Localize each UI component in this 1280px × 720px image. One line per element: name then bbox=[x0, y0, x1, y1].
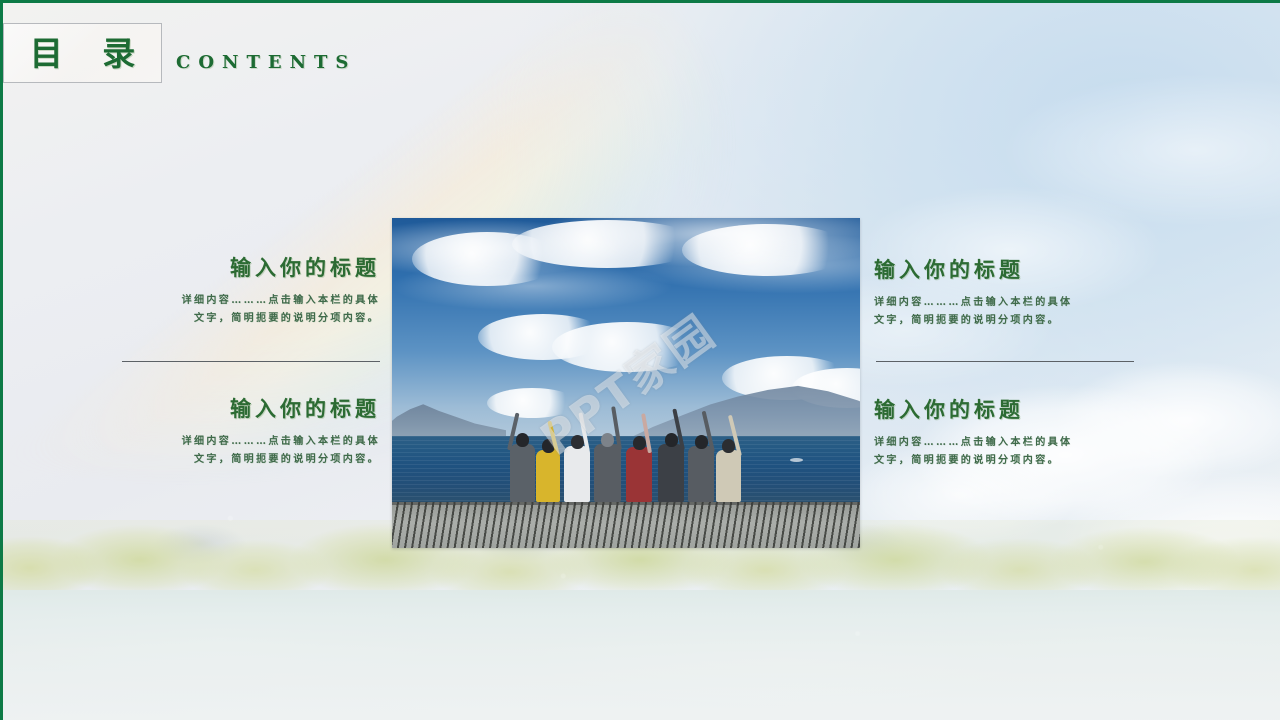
background-water-wash bbox=[0, 590, 1280, 720]
photo-person bbox=[536, 450, 560, 502]
frame-top-border bbox=[0, 0, 1280, 3]
content-block-body-line: 详细内容………点击输入本栏的具体 bbox=[118, 433, 380, 451]
content-block-top-right[interactable]: 输入你的标题 详细内容………点击输入本栏的具体 文字，简明扼要的说明分项内容。 bbox=[874, 257, 1136, 329]
contents-title-box: 目 录 bbox=[3, 23, 162, 83]
content-block-body: 详细内容………点击输入本栏的具体 文字，简明扼要的说明分项内容。 bbox=[874, 434, 1136, 469]
content-block-body-line: 详细内容………点击输入本栏的具体 bbox=[118, 292, 380, 310]
center-photo[interactable]: PPT家园 bbox=[392, 218, 860, 548]
photo-person bbox=[626, 447, 652, 502]
frame-left-border bbox=[0, 0, 3, 720]
photo-boat bbox=[790, 458, 803, 462]
photo-person-head bbox=[601, 433, 614, 447]
content-block-bottom-right[interactable]: 输入你的标题 详细内容………点击输入本栏的具体 文字，简明扼要的说明分项内容。 bbox=[874, 397, 1136, 469]
content-block-body: 详细内容………点击输入本栏的具体 文字，简明扼要的说明分项内容。 bbox=[118, 292, 380, 327]
photo-person bbox=[510, 444, 535, 502]
photo-person bbox=[594, 444, 621, 502]
content-block-body-line: 详细内容………点击输入本栏的具体 bbox=[874, 434, 1136, 452]
photo-person bbox=[716, 450, 741, 502]
page-title-cn: 目 录 bbox=[16, 37, 150, 70]
content-block-body: 详细内容………点击输入本栏的具体 文字，简明扼要的说明分项内容。 bbox=[874, 294, 1136, 329]
page-title-en: CONTENTS bbox=[176, 52, 356, 73]
photo-person-head bbox=[665, 433, 678, 447]
photo-person-head bbox=[722, 439, 735, 453]
content-block-body-line: 文字，简明扼要的说明分项内容。 bbox=[874, 312, 1136, 330]
photo-person-head bbox=[516, 433, 529, 447]
content-block-body: 详细内容………点击输入本栏的具体 文字，简明扼要的说明分项内容。 bbox=[118, 433, 380, 468]
content-block-title: 输入你的标题 bbox=[118, 255, 380, 280]
content-block-title: 输入你的标题 bbox=[874, 397, 1136, 422]
photo-wooden-pier bbox=[392, 502, 860, 548]
content-block-body-line: 文字，简明扼要的说明分项内容。 bbox=[118, 310, 380, 328]
photo-person-head bbox=[633, 436, 646, 450]
slide-canvas: 目 录 CONTENTS bbox=[0, 0, 1280, 720]
content-block-bottom-left[interactable]: 输入你的标题 详细内容………点击输入本栏的具体 文字，简明扼要的说明分项内容。 bbox=[118, 396, 380, 468]
photo-person-head bbox=[571, 435, 584, 449]
photo-person bbox=[688, 446, 714, 502]
divider-right bbox=[876, 361, 1134, 362]
content-block-body-line: 文字，简明扼要的说明分项内容。 bbox=[874, 452, 1136, 470]
content-block-top-left[interactable]: 输入你的标题 详细内容………点击输入本栏的具体 文字，简明扼要的说明分项内容。 bbox=[118, 255, 380, 327]
photo-person bbox=[658, 444, 684, 502]
content-block-body-line: 详细内容………点击输入本栏的具体 bbox=[874, 294, 1136, 312]
divider-left bbox=[122, 361, 380, 362]
content-block-body-line: 文字，简明扼要的说明分项内容。 bbox=[118, 451, 380, 469]
content-block-title: 输入你的标题 bbox=[118, 396, 380, 421]
photo-person bbox=[564, 446, 590, 502]
content-block-title: 输入你的标题 bbox=[874, 257, 1136, 282]
photo-person-head bbox=[695, 435, 708, 449]
